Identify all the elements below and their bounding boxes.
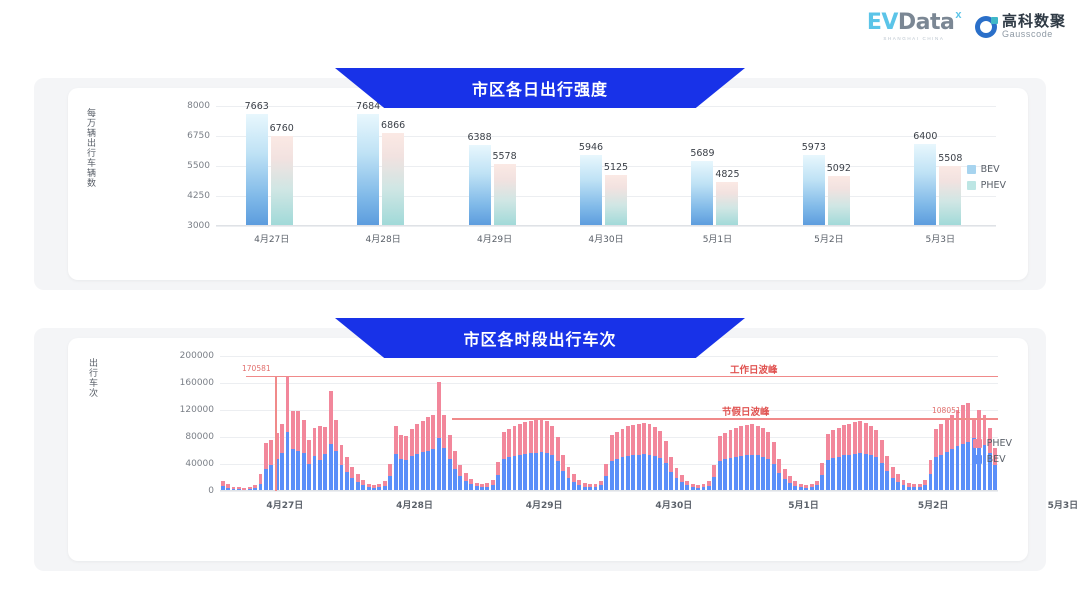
chart1-bar-value-label: 6400: [913, 131, 937, 142]
chart1-bar: 5946: [580, 155, 602, 226]
chart2-y-tick: 80000: [185, 432, 214, 442]
chart1-bar: 5578: [494, 164, 516, 226]
report-page: EVDatax SHANGHAI CHINA 高科数聚 Gausscode 每万…: [0, 0, 1080, 608]
chart1-bar: 5973: [803, 155, 825, 226]
chart1-bar: 4825: [716, 182, 738, 226]
chart2-legend-item-bev[interactable]: BEV: [973, 454, 1012, 465]
gausscode-logo-icon: 高科数聚 Gausscode: [975, 14, 1066, 39]
chart2-y-tick: 160000: [180, 378, 214, 388]
chart2-legend-swatch: [973, 455, 982, 464]
chart1-legend-swatch: [967, 181, 976, 190]
chart2-y-tick: 200000: [180, 351, 214, 361]
chart1-y-tick: 4250: [187, 191, 210, 201]
chart1-bar-value-label: 5689: [690, 148, 714, 159]
chart2-holiday-peak-label: 节假日波峰: [722, 404, 770, 418]
chart1-bar: 5092: [828, 176, 850, 226]
chart1-x-tick: 5月3日: [926, 232, 955, 245]
chart1-bar: 7663: [246, 114, 268, 226]
chart1-bar-value-label: 5578: [492, 151, 516, 162]
chart1-bar-value-label: 7663: [245, 101, 269, 112]
chart2-x-tick: 4月29日: [526, 498, 563, 511]
panel-daily-travel-intensity: 每万辆出行车辆数 30004250550067508000 7663676076…: [34, 78, 1046, 290]
gausscode-name-cn: 高科数聚: [1002, 14, 1066, 30]
chart1-bar-value-label: 5973: [802, 142, 826, 153]
chart2-weekday-peak-bar: [275, 376, 277, 491]
chart2-legend-label: BEV: [987, 454, 1006, 465]
chart1-bar-value-label: 7684: [356, 101, 380, 112]
evdata-logo-ev: EV: [867, 12, 898, 34]
chart1-plot-area: 7663676076846866638855785946512556894825…: [216, 106, 996, 226]
chart1-gridline: [216, 226, 996, 227]
chart2-y-axis-ticks: 04000080000120000160000200000: [68, 356, 214, 491]
chart-hourly-trip-counts: 出行车次 04000080000120000160000200000 4月27日…: [68, 338, 1028, 561]
chart2-y-tick: 40000: [185, 459, 214, 469]
chart1-bar-value-label: 6760: [270, 123, 294, 134]
chart1-y-tick: 5500: [187, 161, 210, 171]
banner-title-2-text: 市区各时段出行车次: [463, 326, 616, 350]
chart2-holiday-peak-line: [452, 418, 998, 420]
chart1-legend-label: PHEV: [981, 180, 1006, 191]
banner-title-1: 市区各日出行强度: [335, 68, 745, 108]
evdata-logo-icon: EVDatax SHANGHAI CHINA: [867, 12, 961, 41]
chart2-holiday-peak-value: 108051: [932, 406, 961, 415]
chart2-legend-label: PHEV: [987, 438, 1012, 449]
panel-hourly-trip-counts: 出行车次 04000080000120000160000200000 4月27日…: [34, 328, 1046, 571]
chart2-y-tick: 120000: [180, 405, 214, 415]
chart1-y-tick: 8000: [187, 101, 210, 111]
chart1-bar: 5689: [691, 161, 713, 226]
chart2-x-tick: 4月30日: [655, 498, 692, 511]
chart1-bar-value-label: 4825: [715, 169, 739, 180]
chart1-bar-value-label: 5092: [827, 163, 851, 174]
chart2-x-tick: 4月28日: [396, 498, 433, 511]
chart2-y-tick: 0: [208, 486, 214, 496]
chart1-y-tick: 6750: [187, 131, 210, 141]
evdata-logo-superscript: x: [955, 10, 961, 21]
chart1-legend-swatch: [967, 165, 976, 174]
chart1-x-tick: 5月2日: [814, 232, 843, 245]
chart1-y-tick: 3000: [187, 221, 210, 231]
chart2-gridline: [220, 491, 998, 492]
chart1-bar: 6400: [914, 144, 936, 226]
chart1-legend-item-bev[interactable]: BEV: [967, 164, 1006, 175]
chart1-legend-item-phev[interactable]: PHEV: [967, 180, 1006, 191]
chart2-x-tick: 5月2日: [918, 498, 949, 511]
brand-logo-bar: EVDatax SHANGHAI CHINA 高科数聚 Gausscode: [867, 12, 1066, 41]
banner-title-1-text: 市区各日出行强度: [472, 76, 608, 100]
chart-card-1: 每万辆出行车辆数 30004250550067508000 7663676076…: [68, 88, 1028, 280]
chart1-bar: 5125: [605, 175, 627, 226]
evdata-logo-tagline: SHANGHAI CHINA: [883, 36, 944, 41]
chart1-legend-label: BEV: [981, 164, 1000, 175]
chart1-bar-value-label: 5508: [938, 153, 962, 164]
chart2-x-tick: 4月27日: [266, 498, 303, 511]
chart1-bar-value-label: 6866: [381, 120, 405, 131]
chart2-annotations: 工作日波峰170581节假日波峰108051: [220, 356, 998, 491]
chart1-bar: 7684: [357, 114, 379, 226]
gausscode-name-en: Gausscode: [1002, 30, 1066, 39]
chart1-legend[interactable]: BEVPHEV: [967, 164, 1006, 191]
chart1-bar-value-label: 5946: [579, 142, 603, 153]
chart1-x-tick: 5月1日: [703, 232, 732, 245]
chart2-legend[interactable]: PHEVBEV: [973, 438, 1012, 465]
chart1-x-tick: 4月27日: [254, 232, 289, 245]
chart1-x-tick: 4月30日: [588, 232, 623, 245]
chart-daily-travel-intensity: 每万辆出行车辆数 30004250550067508000 7663676076…: [68, 88, 1028, 280]
chart2-x-tick: 5月1日: [788, 498, 819, 511]
chart1-bar-value-label: 5125: [604, 162, 628, 173]
chart1-axis-line: [216, 225, 996, 226]
chart1-bar-value-label: 6388: [467, 132, 491, 143]
chart1-bar: 6760: [271, 136, 293, 226]
chart2-weekday-peak-label: 工作日波峰: [730, 362, 778, 376]
banner-title-2: 市区各时段出行车次: [335, 318, 745, 358]
chart1-y-axis-ticks: 30004250550067508000: [68, 106, 210, 226]
chart2-weekday-peak-line: [246, 376, 998, 378]
chart2-x-tick: 5月3日: [1048, 498, 1079, 511]
chart2-legend-item-phev[interactable]: PHEV: [973, 438, 1012, 449]
chart-card-2: 出行车次 04000080000120000160000200000 4月27日…: [68, 338, 1028, 561]
chart2-legend-swatch: [973, 439, 982, 448]
chart1-x-tick: 4月29日: [477, 232, 512, 245]
chart1-x-tick: 4月28日: [366, 232, 401, 245]
chart1-bar: 5508: [939, 166, 961, 226]
chart1-bar: 6388: [469, 145, 491, 226]
evdata-logo-data: Data: [898, 12, 954, 34]
chart2-weekday-peak-value: 170581: [242, 364, 271, 373]
chart1-bar: 6866: [382, 133, 404, 226]
chart1-gridline: [216, 136, 996, 137]
gausscode-mark-icon: [975, 16, 997, 38]
